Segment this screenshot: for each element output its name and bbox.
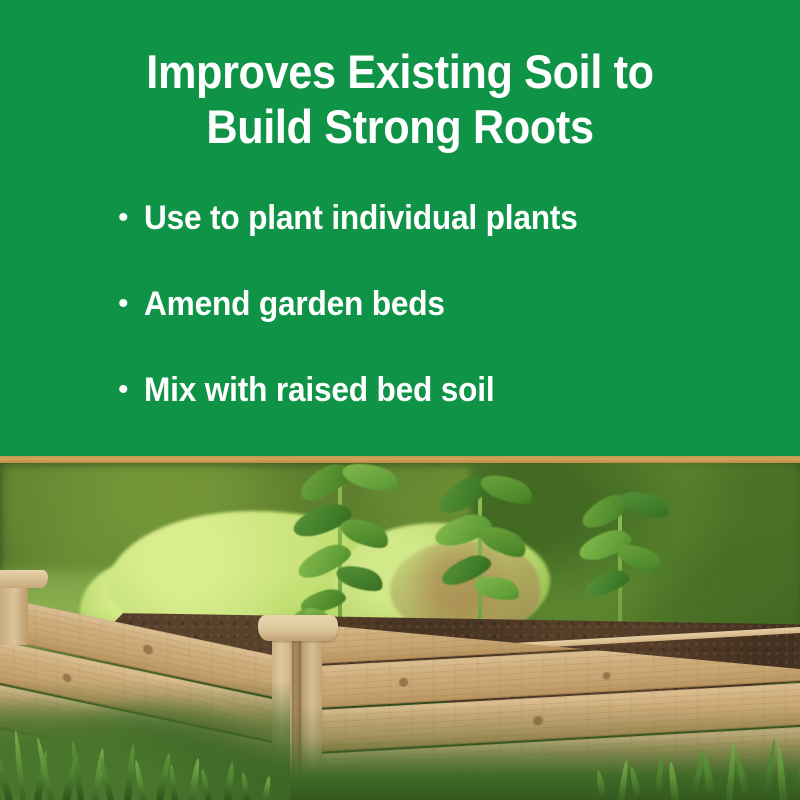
bed-corner-post-cap: [258, 615, 338, 641]
bullet-label: Use to plant individual plants: [144, 196, 578, 240]
bullet-dot-icon: •: [118, 196, 144, 240]
benefit-bullet-list: • Use to plant individual plants • Amend…: [0, 196, 800, 454]
bed-corner-post-cap-far: [0, 570, 48, 588]
raised-bed-photo: [0, 463, 800, 800]
bullet-label: Mix with raised bed soil: [144, 368, 494, 412]
green-message-panel: Improves Existing Soil to Build Strong R…: [0, 0, 800, 456]
bullet-dot-icon: •: [118, 282, 144, 326]
list-item: • Use to plant individual plants: [0, 196, 800, 282]
headline: Improves Existing Soil to Build Strong R…: [32, 44, 768, 154]
list-item: • Mix with raised bed soil: [0, 368, 800, 454]
bed-right-face: [300, 623, 800, 800]
bullet-dot-icon: •: [118, 368, 144, 412]
bed-corner-post-far: [0, 581, 28, 645]
bullet-label: Amend garden beds: [144, 282, 445, 326]
gold-divider-rule: [0, 456, 800, 463]
product-feature-card: Improves Existing Soil to Build Strong R…: [0, 0, 800, 800]
list-item: • Amend garden beds: [0, 282, 800, 368]
